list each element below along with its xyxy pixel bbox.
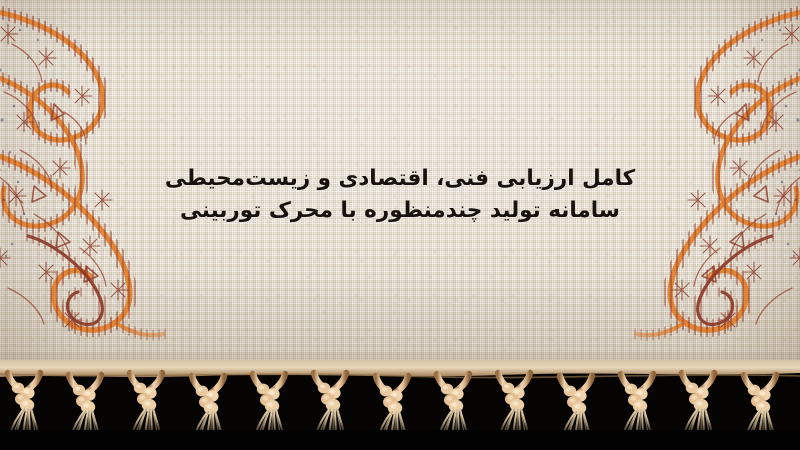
title-line-2: سامانه تولید چندمنظوره با محرک توربینی [0, 195, 800, 227]
slide-canvas: کامل ارزیابی فنی، اقتصادی و زیست‌محیطی س… [0, 0, 800, 450]
title-line-1: کامل ارزیابی فنی، اقتصادی و زیست‌محیطی [0, 163, 800, 195]
bottom-backdrop [0, 430, 800, 450]
slide-title: کامل ارزیابی فنی، اقتصادی و زیست‌محیطی س… [0, 163, 800, 227]
